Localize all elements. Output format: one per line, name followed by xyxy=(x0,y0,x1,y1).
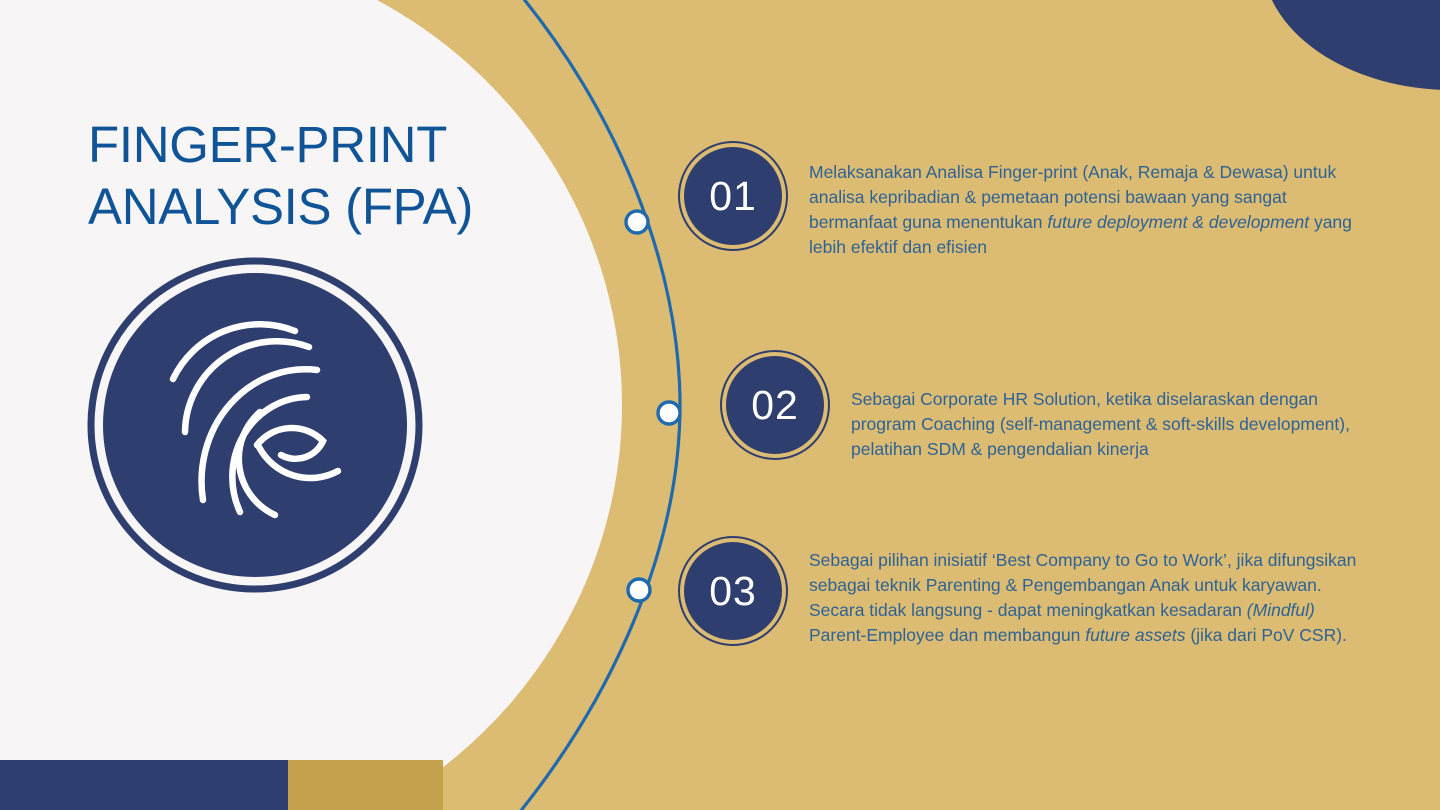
title-line-1: FINGER-PRINT xyxy=(88,114,558,176)
step-description-01: Melaksanakan Analisa Finger-print (Anak,… xyxy=(809,160,1354,260)
step-description-03: Sebagai pilihan inisiatif ‘Best Company … xyxy=(809,548,1361,648)
step-circle-02[interactable]: 02 xyxy=(720,350,830,460)
timeline-dot-03[interactable] xyxy=(628,579,650,601)
step-circle-03[interactable]: 03 xyxy=(678,536,788,646)
slide-canvas: FINGER-PRINT ANALYSIS (FPA) 01 02 03 Mel… xyxy=(0,0,1440,810)
timeline-dot-01[interactable] xyxy=(626,211,648,233)
step-description-02: Sebagai Corporate HR Solution, ketika di… xyxy=(851,387,1361,462)
fingerprint-logo xyxy=(85,255,425,595)
step-number-01: 01 xyxy=(709,176,757,217)
gold-accent-bar xyxy=(288,760,443,810)
timeline-dot-02[interactable] xyxy=(658,402,680,424)
step-number-02: 02 xyxy=(751,385,799,426)
fingerprint-disc xyxy=(103,273,407,577)
page-title: FINGER-PRINT ANALYSIS (FPA) xyxy=(88,114,558,238)
step-circle-01[interactable]: 01 xyxy=(678,141,788,251)
step-number-03: 03 xyxy=(709,571,757,612)
navy-accent-bar xyxy=(0,760,288,810)
title-line-2: ANALYSIS (FPA) xyxy=(88,176,558,238)
